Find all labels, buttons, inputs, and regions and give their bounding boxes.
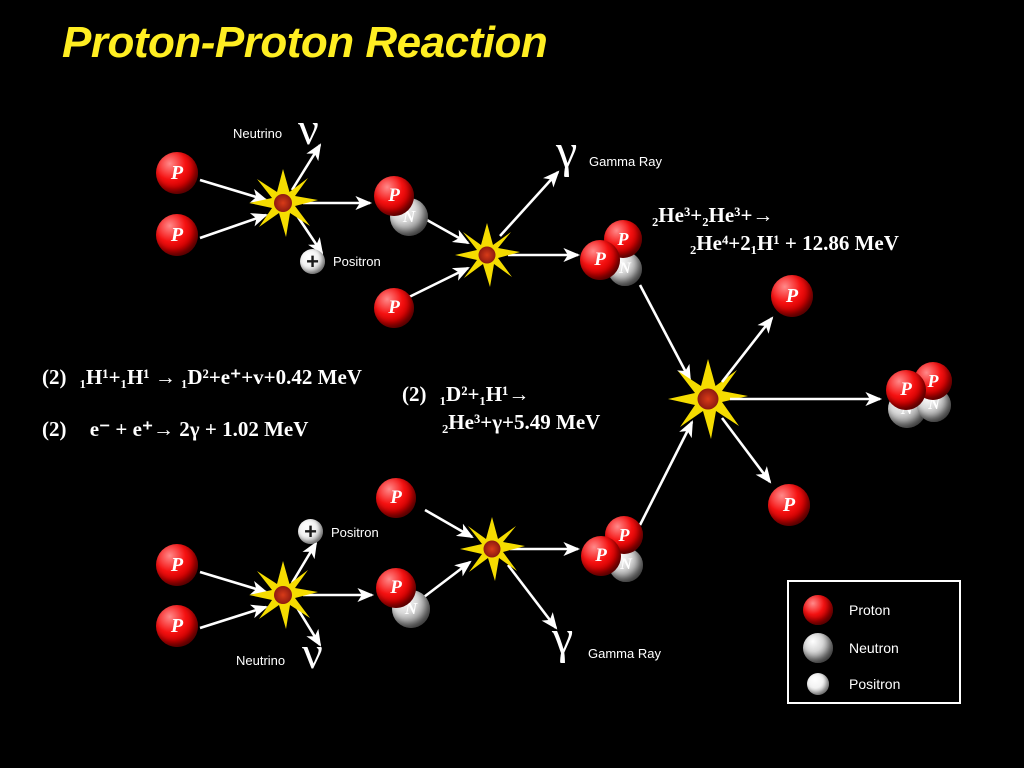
proton-sphere-lower: P bbox=[581, 536, 621, 576]
positron-label-bottom: Positron bbox=[331, 525, 379, 540]
burst-bottom-he3 bbox=[460, 517, 525, 581]
positron-bottom: + bbox=[298, 519, 323, 544]
proton-input-top-3: P bbox=[374, 288, 414, 328]
equation-helium3: (2) ₁D²+₁H¹→ ₂He³+γ+5.49 MeV bbox=[402, 380, 600, 437]
proton-label: P bbox=[594, 249, 606, 271]
diagram-canvas: Proton-Proton Reaction bbox=[0, 0, 1024, 768]
burst-top bbox=[249, 169, 318, 237]
proton-label: P bbox=[390, 487, 402, 509]
proton-label: P bbox=[388, 297, 400, 319]
equation-prefix: (2) bbox=[42, 365, 67, 389]
equation-line-2: ₂He⁴+2₁H¹ + 12.86 MeV bbox=[690, 229, 899, 257]
proton-sphere-left: P bbox=[886, 370, 926, 410]
proton-label: P bbox=[786, 285, 798, 308]
positron-label-top: Positron bbox=[333, 254, 381, 269]
burst-top-he3 bbox=[455, 223, 520, 287]
page-title: Proton-Proton Reaction bbox=[62, 18, 547, 68]
equation-line-2: ₂He³+γ+5.49 MeV bbox=[442, 408, 600, 436]
burst-bottom bbox=[249, 561, 318, 629]
positron-swatch-icon bbox=[807, 673, 829, 695]
gamma-label-top: Gamma Ray bbox=[589, 154, 662, 169]
equation-line-1: ₂He³+₂He³+→ bbox=[652, 203, 773, 227]
proton-label: P bbox=[171, 224, 183, 247]
proton-label: P bbox=[388, 185, 400, 207]
equation-proton-proton: (2) ₁H¹+₁H¹ → ₁D²+e⁺+v+0.42 MeV bbox=[42, 363, 362, 391]
proton-sphere-lower: P bbox=[580, 240, 620, 280]
equation-helium4: ₂He³+₂He³+→ ₂He⁴+2₁H¹ + 12.86 MeV bbox=[652, 201, 899, 258]
proton-label: P bbox=[595, 545, 607, 567]
proton-input-bottom-3: P bbox=[376, 478, 416, 518]
helium3-bottom: N P P bbox=[581, 516, 651, 586]
proton-input-bottom-1: P bbox=[156, 544, 198, 586]
proton-output-lower: P bbox=[768, 484, 810, 526]
legend-box: Proton Neutron Positron bbox=[787, 580, 961, 704]
legend-item-proton: Proton bbox=[803, 595, 890, 625]
helium4: N N P P bbox=[884, 362, 962, 438]
proton-sphere: P bbox=[374, 176, 414, 216]
equation-body: e⁻ + e⁺→ 2γ + 1.02 MeV bbox=[90, 417, 309, 441]
equation-body: ₁H¹+₁H¹ → ₁D²+e⁺+v+0.42 MeV bbox=[80, 365, 362, 389]
proton-input-bottom-2: P bbox=[156, 605, 198, 647]
gamma-label-bottom: Gamma Ray bbox=[588, 646, 661, 661]
legend-item-positron: Positron bbox=[803, 673, 900, 695]
legend-label: Neutron bbox=[849, 640, 899, 656]
proton-sphere: P bbox=[376, 568, 416, 608]
proton-label: P bbox=[171, 162, 183, 185]
proton-label: P bbox=[619, 525, 630, 546]
neutrino-label-bottom: Neutrino bbox=[236, 653, 285, 668]
deuteron-top: N P bbox=[372, 176, 434, 238]
proton-output-upper: P bbox=[771, 275, 813, 317]
burst-fusion bbox=[668, 359, 748, 439]
proton-label: P bbox=[928, 371, 939, 392]
positron-top: + bbox=[300, 249, 325, 274]
neutrino-symbol-bottom: ν bbox=[302, 630, 323, 676]
proton-label: P bbox=[783, 494, 795, 517]
proton-swatch-icon bbox=[803, 595, 833, 625]
deuteron-bottom: N P bbox=[374, 568, 436, 630]
positron-plus-symbol: + bbox=[304, 521, 317, 543]
equation-annihilation: (2) e⁻ + e⁺→ 2γ + 1.02 MeV bbox=[42, 415, 308, 443]
legend-label: Proton bbox=[849, 602, 890, 618]
equation-prefix: (2) bbox=[402, 382, 427, 406]
gamma-symbol-top: γ bbox=[556, 128, 577, 176]
neutrino-symbol-top: ν bbox=[298, 106, 319, 152]
neutrino-label-top: Neutrino bbox=[233, 126, 282, 141]
proton-label: P bbox=[900, 379, 912, 401]
neutron-label: N bbox=[620, 556, 632, 574]
proton-label: P bbox=[171, 615, 183, 638]
proton-label: P bbox=[390, 577, 402, 599]
proton-label: P bbox=[171, 554, 183, 577]
helium3-top: N P P bbox=[580, 220, 650, 290]
legend-label: Positron bbox=[849, 676, 900, 692]
proton-input-top-2: P bbox=[156, 214, 198, 256]
neutron-swatch-icon bbox=[803, 633, 833, 663]
gamma-symbol-bottom: γ bbox=[552, 614, 573, 662]
proton-input-top-1: P bbox=[156, 152, 198, 194]
proton-label: P bbox=[618, 229, 629, 250]
neutron-label: N bbox=[619, 260, 631, 278]
legend-item-neutron: Neutron bbox=[803, 633, 899, 663]
positron-plus-symbol: + bbox=[306, 251, 319, 273]
equation-line-1: ₁D²+₁H¹→ bbox=[440, 382, 530, 406]
equation-prefix: (2) bbox=[42, 417, 67, 441]
